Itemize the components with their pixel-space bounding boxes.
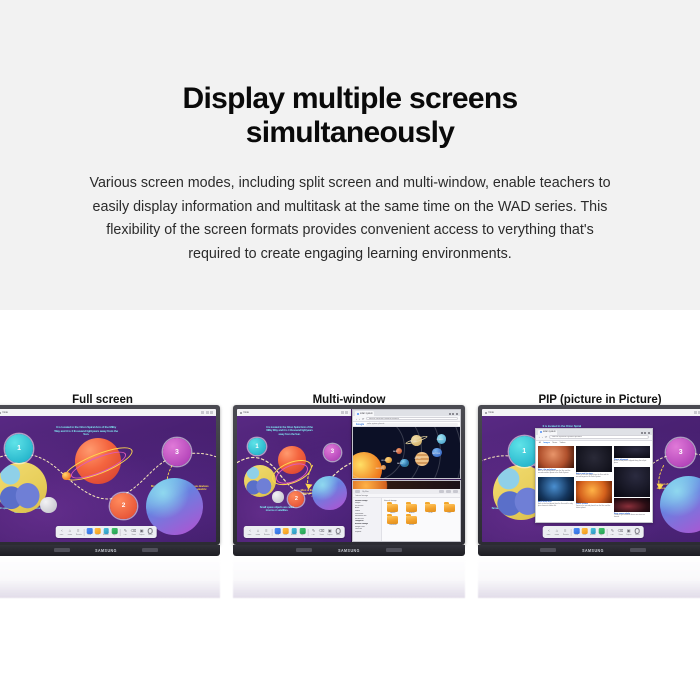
step-badge-1-label: 1 xyxy=(17,445,21,452)
taskbar-label: Home xyxy=(256,534,260,536)
taskbar-item-apps[interactable]: Apps xyxy=(300,528,306,536)
display-bezel: Note It is located in the Orion Spiral A… xyxy=(478,405,700,545)
home-icon: ⌂ xyxy=(67,528,73,534)
taskbar-divider xyxy=(84,529,85,536)
edit-icon: ✎ xyxy=(311,528,317,534)
taskbar-item-files[interactable]: Files xyxy=(582,528,588,536)
planet-label-uranus: URANUS xyxy=(437,440,444,441)
taskbar-label: Apps xyxy=(113,534,117,536)
folder-item[interactable]: Download xyxy=(384,516,401,526)
display-screen: Note It is located in the Orion Spiral A… xyxy=(482,409,700,542)
window-controls[interactable] xyxy=(449,413,458,416)
taskbar-item-power[interactable]: Power xyxy=(634,528,640,536)
sort-icon[interactable] xyxy=(446,490,451,493)
taskbar-item-browser[interactable]: Browser xyxy=(590,528,596,536)
taskbar-item-home[interactable]: ⌂ Home xyxy=(255,528,261,536)
taskbar[interactable]: ‹ Back ⌂ Home ≡ Recents xyxy=(56,526,157,538)
apps-grid-icon xyxy=(599,528,605,534)
taskbar-item-apps[interactable]: Apps xyxy=(599,528,605,536)
browser-app-icon xyxy=(590,528,596,534)
chin-port-right xyxy=(142,548,158,552)
result-card[interactable]: Saturn and its rings Saturn is the sixth… xyxy=(576,446,612,479)
home-icon: ⌂ xyxy=(255,528,261,534)
result-text: Saturn and its rings Saturn is the sixth… xyxy=(576,472,612,479)
taskbar-item-browser[interactable]: Browser xyxy=(103,528,109,536)
forward-icon[interactable]: › xyxy=(359,417,360,421)
folder-item[interactable]: DCIM xyxy=(422,504,439,514)
browser-tab[interactable]: solar system xyxy=(538,430,557,435)
taskbar-label: Browser xyxy=(590,534,596,536)
taskbar[interactable]: ‹ Back ⌂ Home ≡ Recents xyxy=(244,526,345,538)
taskbar-label: Erase xyxy=(320,534,324,536)
step-badge-3-label: 3 xyxy=(679,449,683,456)
capture-icon: ▣ xyxy=(327,528,333,534)
brand-logo: SAMSUNG xyxy=(95,548,117,553)
display-reflection xyxy=(0,556,220,598)
taskbar-label: Home xyxy=(68,534,72,536)
taskbar-item-recents[interactable]: ≡ Recents xyxy=(263,528,269,536)
brand-logo: SAMSUNG xyxy=(338,548,360,553)
step-badge-3-label: 3 xyxy=(175,449,179,456)
browser-tab-title: solar system xyxy=(360,413,373,415)
planet-label-mercury: MERCURY xyxy=(376,469,384,470)
back-icon: ‹ xyxy=(247,528,253,534)
chin-port-right xyxy=(386,548,402,552)
edit-icon: ✎ xyxy=(123,528,129,534)
taskbar-item-back[interactable]: ‹ Back xyxy=(546,528,552,536)
taskbar-label: Note xyxy=(88,534,91,536)
browser-tab-title: solar system xyxy=(543,431,556,433)
taskbar-divider xyxy=(308,529,309,536)
result-thumbnail xyxy=(614,467,650,497)
display-mockup-pip: Note It is located in the Orion Spiral A… xyxy=(478,405,700,556)
eraser-icon: ⌫ xyxy=(131,528,137,534)
search-tab-all[interactable]: All xyxy=(539,442,541,444)
planet-neptune xyxy=(432,448,442,458)
favicon xyxy=(540,431,542,433)
taskbar-label: Power xyxy=(148,534,153,536)
file-explorer-title: My Files xyxy=(362,491,368,493)
taskbar-item-recents[interactable]: ≡ Recents xyxy=(562,528,568,536)
planet-label-venus: VENUS xyxy=(381,461,387,462)
result-text: Earth from orbit Earth is the third plan… xyxy=(538,501,574,508)
forward-icon[interactable]: › xyxy=(542,435,543,439)
folder-name: DCIM xyxy=(428,513,432,514)
step-badge-1-label: 1 xyxy=(522,448,526,455)
maximize-icon[interactable] xyxy=(644,432,646,434)
page-title-line1: Display multiple screens xyxy=(182,82,517,115)
taskbar-divider xyxy=(571,529,572,536)
browser-app-icon xyxy=(103,528,109,534)
result-card[interactable]: Planet alignment A view of the planets a… xyxy=(614,446,650,465)
taskbar-label: Apps xyxy=(600,534,604,536)
step-badge-3-label: 3 xyxy=(331,449,334,455)
taskbar-item-apps[interactable]: Apps xyxy=(112,528,118,536)
folder-item[interactable]: Alarms xyxy=(384,504,401,514)
close-icon[interactable] xyxy=(648,432,650,434)
taskbar-label: Back xyxy=(60,534,64,536)
whiteboard-canvas[interactable]: Note It is located in the Orion Spiral A… xyxy=(482,409,700,542)
taskbar-item-erase[interactable]: ⌫ Erase xyxy=(131,528,137,536)
taskbar-item-erase[interactable]: ⌫ Erase xyxy=(319,528,325,536)
result-snippet: A view of the planets aligned along the … xyxy=(614,461,650,465)
eraser-icon: ⌫ xyxy=(618,528,624,534)
minimize-icon[interactable] xyxy=(449,413,451,415)
recents-icon: ≡ xyxy=(76,528,82,534)
planet-label-mars: MARS xyxy=(393,452,398,453)
result-card[interactable]: Venus surface Venus is the second planet… xyxy=(576,481,612,510)
taskbar-label: Power xyxy=(336,534,341,536)
capture-icon: ▣ xyxy=(626,528,632,534)
result-card[interactable]: Mars - the red planet Mars is the fourth… xyxy=(538,446,574,475)
result-thumbnail xyxy=(576,446,612,472)
taskbar-label: Recents xyxy=(263,534,269,536)
avatar[interactable] xyxy=(355,490,360,493)
browser-window[interactable]: solar system ‹ › ⟳ search?q=solar+system… xyxy=(352,409,461,479)
display-bezel: Note It is located in the Orion Spiral A… xyxy=(233,405,465,545)
power-icon xyxy=(634,528,640,534)
recents-icon: ≡ xyxy=(563,528,569,534)
taskbar-divider xyxy=(120,529,121,536)
favicon xyxy=(357,413,359,415)
results-column: Mars - the red planet Mars is the fourth… xyxy=(538,446,574,519)
taskbar-item-pen[interactable]: ✎ Pen xyxy=(311,528,317,536)
results-column: Saturn and its rings Saturn is the sixth… xyxy=(576,446,612,519)
edit-icon: ✎ xyxy=(610,528,616,534)
result-snippet: Clouds of gas and dust where new stars a… xyxy=(614,515,650,519)
planet-ring-node xyxy=(62,472,71,481)
page-title-line2: simultaneously xyxy=(246,116,455,149)
pip-browser-window[interactable]: solar system ‹ › ⟳ sea xyxy=(535,428,653,524)
taskbar-label: Recents xyxy=(562,534,568,536)
taskbar-item-note[interactable]: Note xyxy=(275,528,281,536)
display-reflection xyxy=(478,556,700,598)
taskbar-divider xyxy=(272,529,273,536)
browser-tab[interactable]: solar system xyxy=(355,411,374,416)
taskbar[interactable]: ‹ Back ⌂ Home ≡ Recents xyxy=(543,526,644,538)
taskbar-item-pen[interactable]: ✎ Pen xyxy=(123,528,129,536)
apps-grid-icon xyxy=(300,528,306,534)
files-app-icon xyxy=(95,528,101,534)
taskbar-item-files[interactable]: Files xyxy=(95,528,101,536)
chin-port-right xyxy=(630,548,646,552)
taskbar-item-back[interactable]: ‹ Back xyxy=(59,528,65,536)
taskbar-label: Capture xyxy=(626,534,632,536)
result-text: Mars - the red planet Mars is the fourth… xyxy=(538,468,574,475)
result-snippet: Mars is the fourth planet from the Sun a… xyxy=(538,471,574,475)
address-bar[interactable]: search?q=solar+system+planets xyxy=(549,435,649,439)
step-badge-2-label: 2 xyxy=(295,496,298,502)
folder-icon xyxy=(406,504,417,513)
result-thumbnail xyxy=(576,481,612,503)
taskbar-item-browser[interactable]: Browser xyxy=(291,528,297,536)
hero-section: Display multiple screens simultaneously … xyxy=(0,0,700,310)
result-card[interactable]: Earth from orbit Earth is the third plan… xyxy=(538,477,574,508)
results-column: Planet alignment A view of the planets a… xyxy=(614,446,650,519)
more-icon[interactable] xyxy=(453,490,458,493)
taskbar-label: Back xyxy=(547,534,551,536)
taskbar-item-erase[interactable]: ⌫ Erase xyxy=(618,528,624,536)
taskbar-label: Note xyxy=(276,534,279,536)
eraser-icon: ⌫ xyxy=(319,528,325,534)
taskbar-label: Pen xyxy=(124,534,127,536)
step-badge-3[interactable]: 3 xyxy=(324,444,341,461)
folder-name: Download xyxy=(389,525,396,526)
planet-neptune xyxy=(312,476,346,510)
taskbar-label: Pen xyxy=(611,534,614,536)
taskbar-label: Browser xyxy=(291,534,297,536)
folder-icon xyxy=(444,504,455,513)
note-app-icon xyxy=(87,528,93,534)
step-badge-3[interactable]: 3 xyxy=(666,438,695,467)
display-mockup-multi-window: Note It is located in the Orion Spiral A… xyxy=(233,405,465,556)
display-screen: Note It is located in the Orion Spiral A… xyxy=(237,409,461,542)
file-explorer-sidebar[interactable]: Internal storage Images Documents Audio … xyxy=(353,498,382,541)
planet-moon xyxy=(272,491,283,502)
note-app-icon xyxy=(574,528,580,534)
taskbar-label: Files xyxy=(583,534,586,536)
taskbar-item-capture[interactable]: ▣ Capture xyxy=(626,528,632,536)
taskbar-label: Note xyxy=(575,534,578,536)
search-input[interactable]: solar system planets xyxy=(366,423,457,426)
whiteboard-note-top: It is located in the Orion Spiral Arm of… xyxy=(264,426,314,436)
planet-earth xyxy=(244,465,276,497)
display-reflection xyxy=(233,556,465,598)
maximize-icon[interactable] xyxy=(452,413,454,415)
solar-system-diagram: MERCURY VENUS EARTH MARS JUPITER SATURN xyxy=(353,427,460,478)
brand-logo: SAMSUNG xyxy=(582,548,604,553)
display-chin: SAMSUNG xyxy=(478,545,700,556)
planet-label-neptune: NEPTUNE xyxy=(432,454,440,455)
folder-icon xyxy=(425,504,436,513)
whiteboard-canvas[interactable]: Note It is located in the Orion Spiral A… xyxy=(237,409,351,542)
planet-label-earth: EARTH xyxy=(397,464,402,465)
taskbar-item-back[interactable]: ‹ Back xyxy=(247,528,253,536)
image-results-grid: Mars - the red planet Mars is the fourth… xyxy=(536,445,652,522)
whiteboard-note-left: Small space objects are called moons or … xyxy=(258,506,297,512)
taskbar-item-power[interactable]: Power xyxy=(147,528,153,536)
address-bar[interactable]: search?q=solar+system+planets xyxy=(366,417,457,421)
apps-grid-icon xyxy=(112,528,118,534)
taskbar-item-capture[interactable]: ▣ Capture xyxy=(327,528,333,536)
folder-item[interactable]: Android xyxy=(403,504,420,514)
display-bezel: Note xyxy=(0,405,220,545)
power-icon xyxy=(147,528,153,534)
taskbar-item-recents[interactable]: ≡ Recents xyxy=(75,528,81,536)
result-snippet: Saturn is the sixth planet from the Sun … xyxy=(576,475,612,479)
reload-icon[interactable]: ⟳ xyxy=(362,417,365,421)
chin-port-left xyxy=(296,548,312,552)
file-explorer-content: Internal storage Alarms Android xyxy=(382,498,460,541)
back-icon[interactable]: ‹ xyxy=(539,435,540,439)
files-app-icon xyxy=(582,528,588,534)
file-explorer-preview-strip xyxy=(353,481,460,489)
taskbar-label: Files xyxy=(284,534,287,536)
search-tab-videos[interactable]: Videos xyxy=(560,442,566,444)
home-icon: ⌂ xyxy=(554,528,560,534)
result-thumbnail xyxy=(538,477,574,501)
result-snippet: Earth is the third planet from the Sun a… xyxy=(538,504,574,508)
back-icon[interactable]: ‹ xyxy=(356,417,357,421)
taskbar-item-pen[interactable]: ✎ Pen xyxy=(610,528,616,536)
search-icon[interactable] xyxy=(439,490,444,493)
folder-icon xyxy=(406,516,417,525)
whiteboard-canvas[interactable]: Note xyxy=(0,409,216,542)
taskbar-label: Back xyxy=(248,534,252,536)
folder-item[interactable]: Docs xyxy=(441,504,458,514)
recents-icon: ≡ xyxy=(264,528,270,534)
search-tab-images[interactable]: Images xyxy=(543,442,550,444)
close-icon[interactable] xyxy=(456,413,458,415)
result-thumbnail xyxy=(614,498,650,512)
page-description: Various screen modes, including split sc… xyxy=(88,172,612,266)
back-icon: ‹ xyxy=(546,528,552,534)
file-explorer-window[interactable]: My Files Internal storage Internal stora… xyxy=(352,480,461,542)
capture-icon: ▣ xyxy=(139,528,145,534)
step-badge-1[interactable]: 1 xyxy=(248,438,265,455)
preview-thumbnail xyxy=(353,481,460,489)
taskbar-label: Recents xyxy=(75,534,81,536)
planet-label-jupiter: JUPITER xyxy=(414,459,421,460)
taskbar-label: Capture xyxy=(327,534,333,536)
folder-name: Docs xyxy=(448,513,452,514)
step-badge-1-label: 1 xyxy=(255,444,258,450)
taskbar-item-capture[interactable]: ▣ Capture xyxy=(139,528,145,536)
taskbar-label: Browser xyxy=(103,534,109,536)
result-thumbnail xyxy=(614,446,650,458)
chin-port-left xyxy=(54,548,70,552)
sidebar-item-dropbox[interactable]: Dropbox xyxy=(355,531,380,534)
taskbar-label: Apps xyxy=(301,534,305,536)
reload-icon[interactable]: ⟳ xyxy=(545,435,548,439)
file-explorer-body: Internal storage Images Documents Audio … xyxy=(353,498,460,541)
back-icon: ‹ xyxy=(59,528,65,534)
planet-moon xyxy=(40,497,57,514)
result-text: Venus surface Venus is the second planet… xyxy=(576,503,612,510)
folder-name: Movies xyxy=(409,525,414,526)
search-logo: Google xyxy=(356,423,364,426)
taskbar-item-home[interactable]: ⌂ Home xyxy=(67,528,73,536)
step-badge-3[interactable]: 3 xyxy=(163,438,191,466)
result-text: Deep space nebula Clouds of gas and dust… xyxy=(614,512,650,519)
taskbar-divider xyxy=(607,529,608,536)
files-app-icon xyxy=(283,528,289,534)
minimize-icon[interactable] xyxy=(641,432,643,434)
result-thumbnail xyxy=(538,446,574,468)
chin-port-left xyxy=(540,548,556,552)
taskbar-label: Erase xyxy=(618,534,622,536)
display-mockup-full-screen: Note xyxy=(0,405,220,556)
whiteboard-note-top: It is located in the Orion Spiral Arm of… xyxy=(53,426,119,437)
page-title: Display multiple screens simultaneously xyxy=(0,82,700,150)
taskbar-item-note[interactable]: Note xyxy=(574,528,580,536)
result-text: Planet alignment A view of the planets a… xyxy=(614,458,650,465)
taskbar-item-note[interactable]: Note xyxy=(87,528,93,536)
result-card[interactable] xyxy=(614,467,650,497)
taskbar-item-home[interactable]: ⌂ Home xyxy=(554,528,560,536)
folder-grid: Alarms Android DCIM xyxy=(384,504,458,526)
step-badge-2[interactable]: 2 xyxy=(110,493,136,519)
taskbar-item-power[interactable]: Power xyxy=(335,528,341,536)
display-screen: Note xyxy=(0,409,216,542)
power-icon xyxy=(335,528,341,534)
note-app-icon xyxy=(275,528,281,534)
planet-label-saturn: SATURN xyxy=(410,442,416,443)
taskbar-label: Power xyxy=(635,534,640,536)
step-badge-2-label: 2 xyxy=(122,502,126,509)
step-badge-1[interactable]: 1 xyxy=(5,434,34,463)
folder-item[interactable]: Movies xyxy=(403,516,420,526)
taskbar-item-files[interactable]: Files xyxy=(283,528,289,536)
search-tab-news[interactable]: News xyxy=(552,442,557,444)
showcase-section: Full screen Multi-window PIP (picture in… xyxy=(0,310,700,700)
result-snippet: Venus is the second planet from the Sun … xyxy=(576,506,612,510)
folder-icon xyxy=(387,516,398,525)
planet-uranus xyxy=(437,434,447,444)
taskbar-label: Pen xyxy=(312,534,315,536)
folder-icon xyxy=(387,504,398,513)
display-chin: SAMSUNG xyxy=(233,545,465,556)
taskbar-label: Capture xyxy=(139,534,145,536)
taskbar-label: Files xyxy=(96,534,99,536)
browser-app-icon xyxy=(291,528,297,534)
display-chin: SAMSUNG xyxy=(0,545,220,556)
taskbar-label: Erase xyxy=(131,534,135,536)
result-card[interactable]: Deep space nebula Clouds of gas and dust… xyxy=(614,498,650,519)
window-controls[interactable] xyxy=(641,432,650,435)
taskbar-label: Home xyxy=(555,534,559,536)
